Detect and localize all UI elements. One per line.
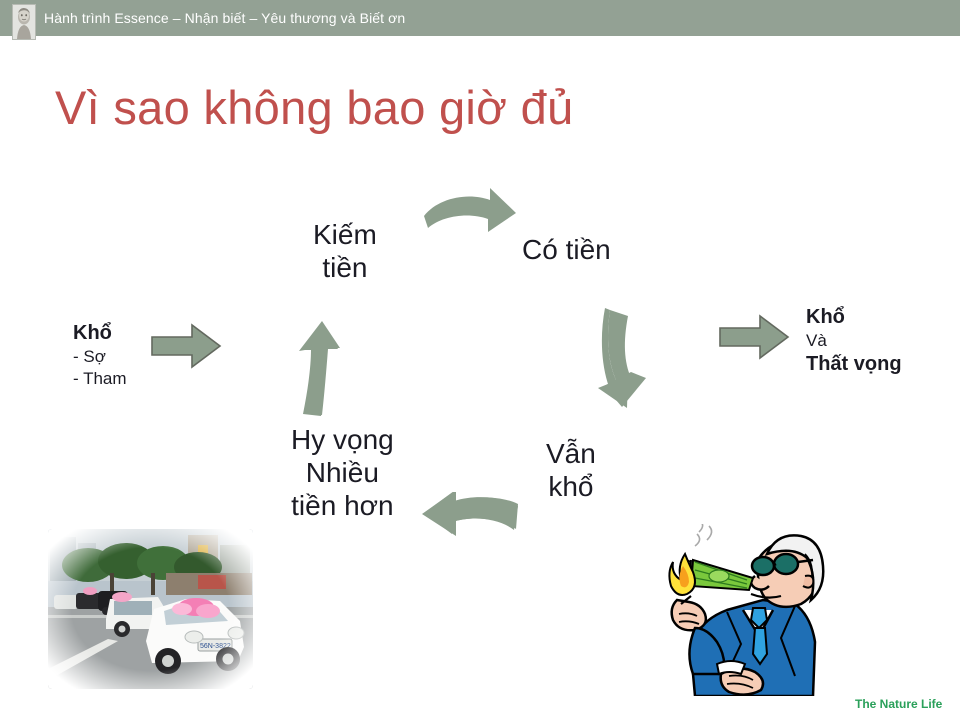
arrow-right-down-icon bbox=[594, 306, 650, 412]
arrow-top-right-icon bbox=[420, 186, 520, 244]
man-burning-money-cartoon bbox=[655, 524, 870, 696]
side-left-item-0: - Sợ bbox=[73, 346, 127, 368]
cycle-node-van-kho: Vẫn khổ bbox=[546, 437, 596, 503]
side-right-line-2: Và bbox=[806, 330, 902, 352]
arrow-entry-icon bbox=[150, 322, 222, 370]
page-title: Vì sao không bao giờ đủ bbox=[55, 80, 574, 135]
side-left-heading: Khổ bbox=[73, 321, 127, 346]
side-right-line-3: Thất vọng bbox=[806, 352, 902, 377]
header-title: Hành trình Essence – Nhận biết – Yêu thư… bbox=[44, 10, 405, 26]
side-right-block: Khổ Và Thất vọng bbox=[806, 305, 902, 377]
arrow-exit-icon bbox=[718, 313, 790, 361]
wedding-car-convoy-photo: 56N-3822 bbox=[48, 529, 253, 689]
arrow-bottom-left-icon bbox=[418, 492, 522, 546]
header-portrait-thumbnail bbox=[12, 4, 36, 40]
side-left-block: Khổ - Sợ - Tham bbox=[73, 321, 127, 390]
slide-canvas: Hành trình Essence – Nhận biết – Yêu thư… bbox=[0, 0, 960, 720]
cycle-node-co-tien: Có tiền bbox=[522, 233, 611, 266]
cycle-node-hy-vong: Hy vọng Nhiều tiền hơn bbox=[291, 423, 394, 522]
side-left-item-1: - Tham bbox=[73, 368, 127, 390]
cycle-node-kiem-tien: Kiếm tiền bbox=[313, 218, 377, 284]
arrow-left-up-icon bbox=[292, 315, 350, 419]
footer-brand: The Nature Life bbox=[855, 697, 942, 711]
side-right-line-1: Khổ bbox=[806, 305, 902, 330]
